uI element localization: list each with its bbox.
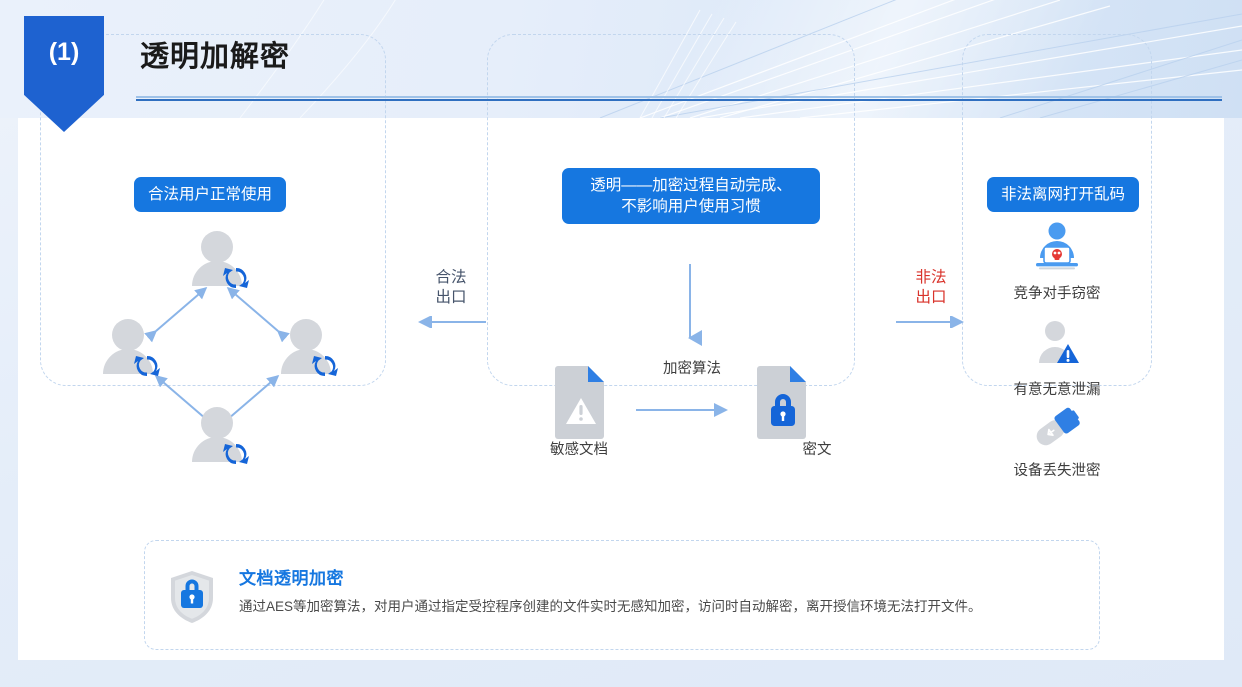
hacker-laptop-icon xyxy=(1026,222,1088,274)
arrow-left-icon xyxy=(414,316,488,328)
threat-item-device-loss: 设备丢失泄密 xyxy=(962,405,1152,480)
threat-label-competitor: 竞争对手窃密 xyxy=(962,282,1152,303)
title-divider xyxy=(136,96,1222,102)
encrypted-document-label: 密文 xyxy=(757,438,877,459)
user-warning-icon xyxy=(1026,320,1088,370)
connector-legal-exit: 合法 出口 xyxy=(396,268,506,328)
sensitive-document-label: 敏感文档 xyxy=(519,438,639,459)
threat-item-leak: 有意无意泄漏 xyxy=(962,320,1152,399)
algorithm-label: 加密算法 xyxy=(632,357,752,378)
connector-legal-label: 合法 出口 xyxy=(396,268,506,308)
threat-label-device-loss: 设备丢失泄密 xyxy=(962,459,1152,480)
encrypted-document-icon xyxy=(757,366,806,439)
title-divider-dark xyxy=(136,99,1222,101)
page-title: 透明加解密 xyxy=(140,33,290,75)
slide-root: (1) 透明加解密 合法用户正常使用 透明——加密过程自动完成、 不影响用户使用… xyxy=(0,0,1242,687)
title-divider-light xyxy=(136,96,1222,98)
arrow-right-icon xyxy=(894,316,968,328)
sensitive-document-icon xyxy=(555,366,604,439)
shield-lock-icon xyxy=(167,569,217,625)
summary-body: 通过AES等加密算法，对用户通过指定受控程序创建的文件实时无感知加密，访问时自动… xyxy=(239,595,1051,618)
pill-transparent-encryption: 透明——加密过程自动完成、 不影响用户使用习惯 xyxy=(562,168,820,224)
section-number-label: (1) xyxy=(49,38,80,67)
usb-drive-icon xyxy=(1026,405,1088,451)
summary-title: 文档透明加密 xyxy=(239,564,344,589)
summary-card: 文档透明加密 通过AES等加密算法，对用户通过指定受控程序创建的文件实时无感知加… xyxy=(144,540,1100,650)
pill-illegal-access: 非法离网打开乱码 xyxy=(987,177,1139,212)
threat-item-competitor: 竞争对手窃密 xyxy=(962,222,1152,303)
user-network-sync-icon xyxy=(88,216,346,486)
pill-legal-users: 合法用户正常使用 xyxy=(134,177,286,212)
flow-down-arrow-icon xyxy=(660,262,720,348)
threat-label-leak: 有意无意泄漏 xyxy=(962,378,1152,399)
